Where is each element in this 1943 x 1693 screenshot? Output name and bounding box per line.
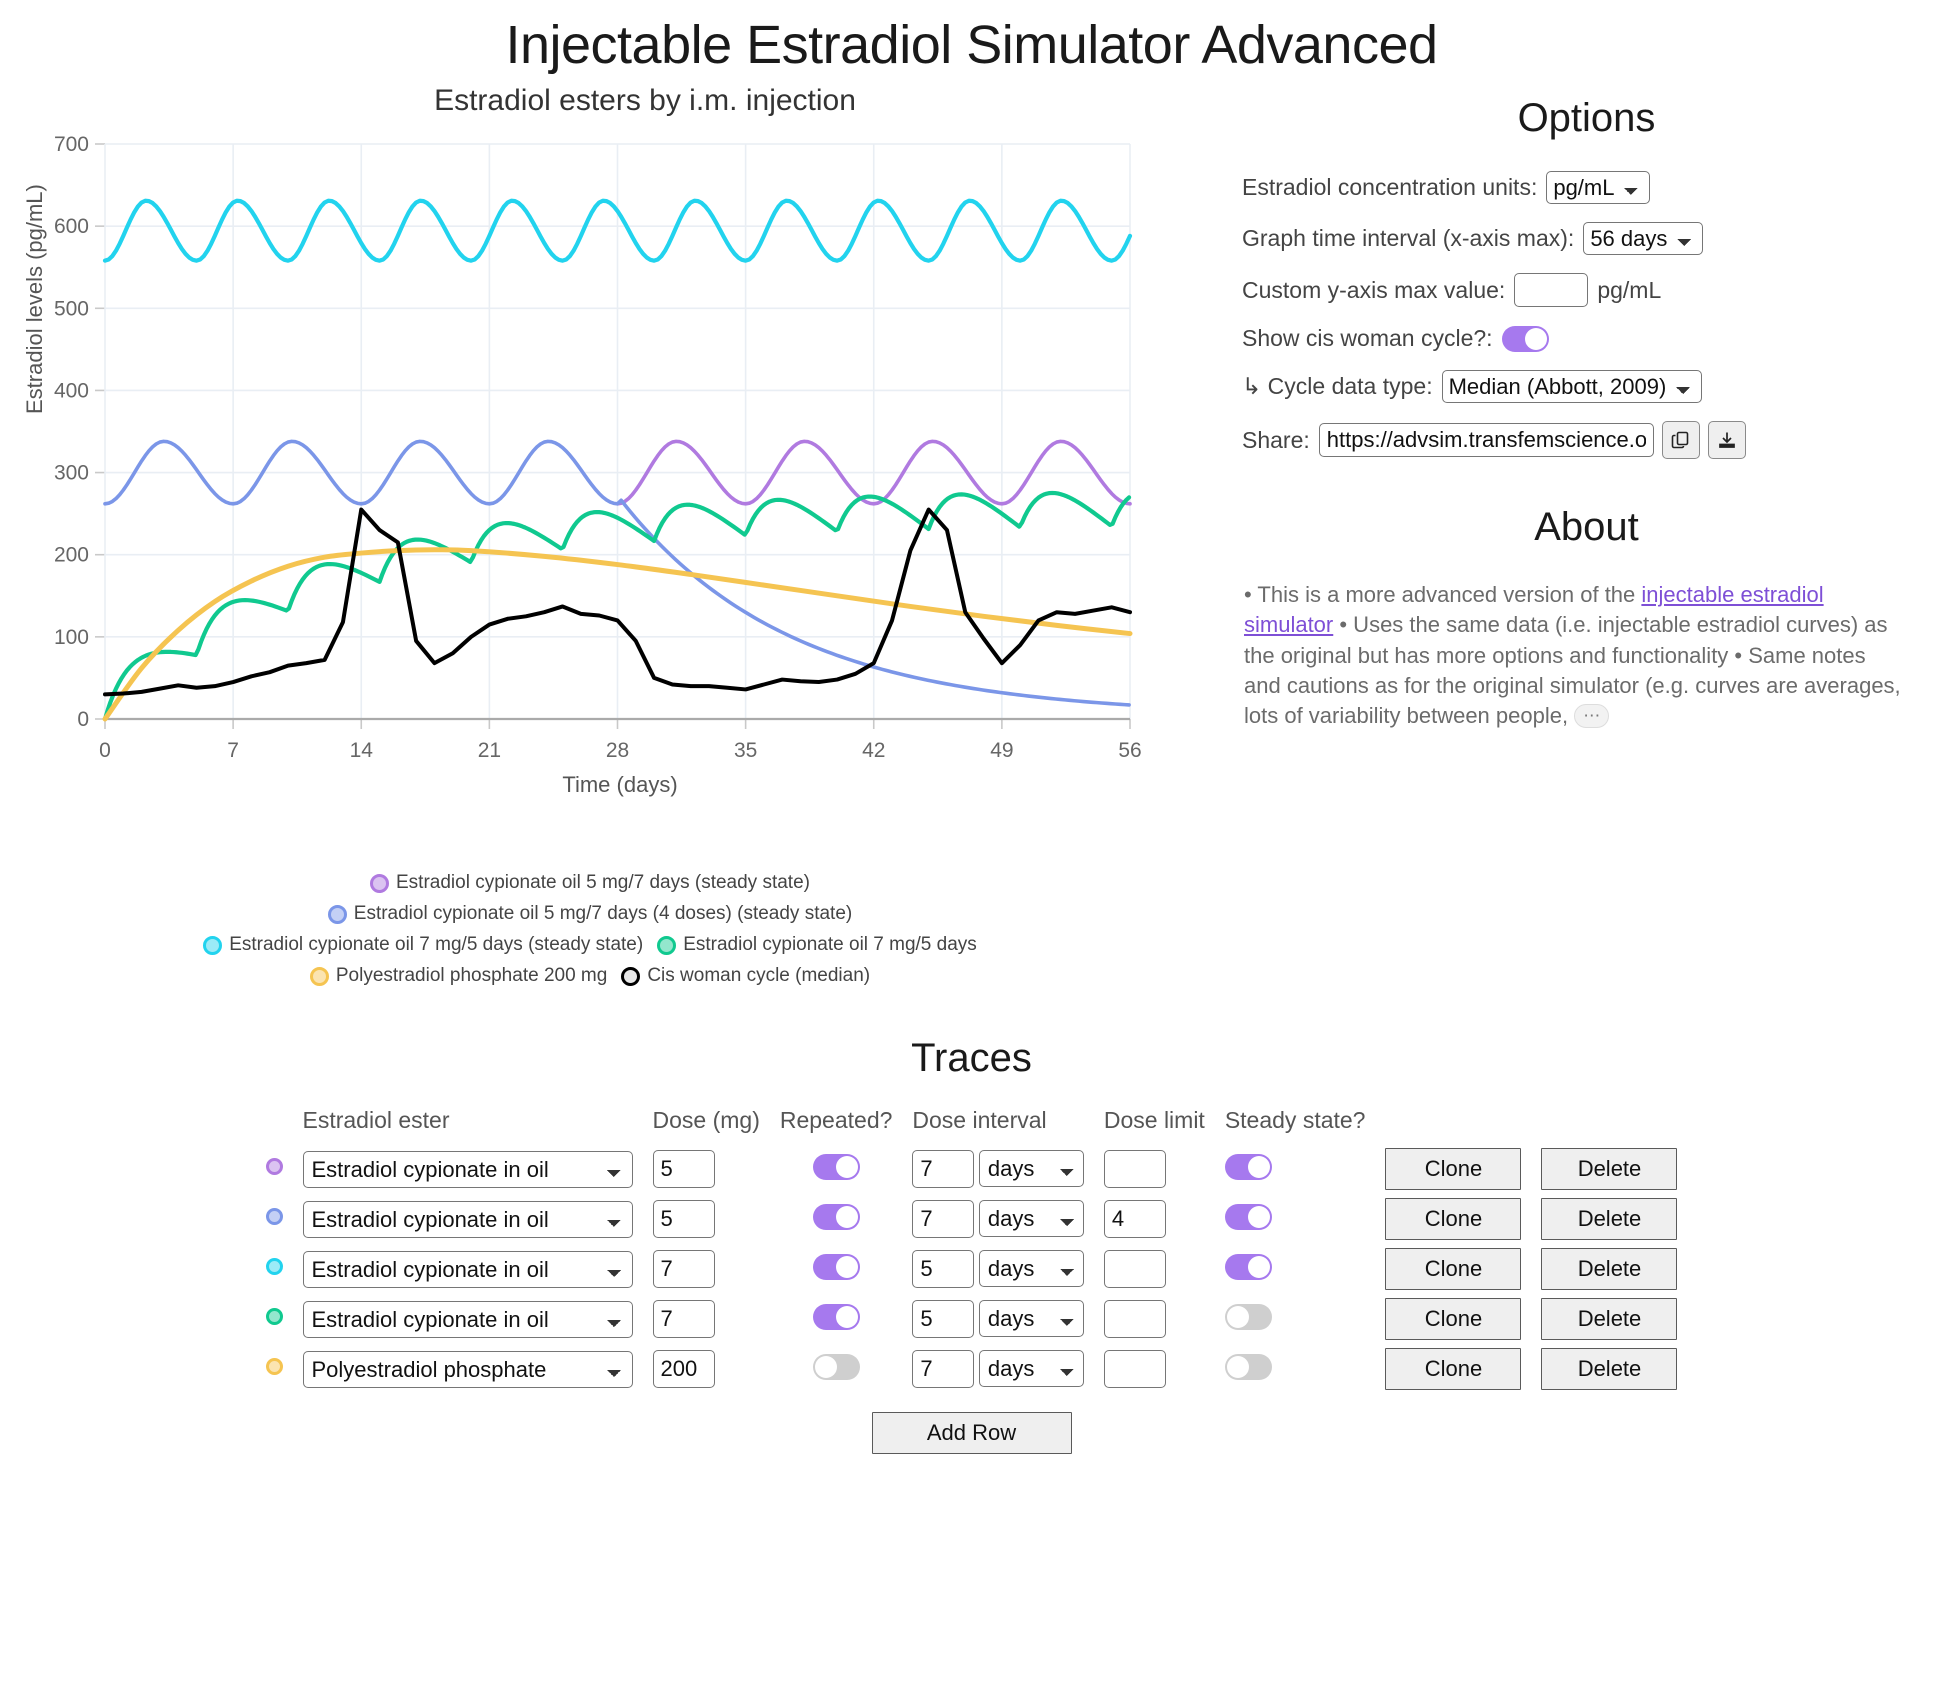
repeated-cell [770, 1244, 903, 1294]
clone-cell: Clone [1375, 1344, 1531, 1394]
traces-header-row: Estradiol ester Dose (mg) Repeated? Dose… [256, 1107, 1688, 1144]
svg-text:600: 600 [54, 215, 89, 238]
trace-color-cell [256, 1194, 293, 1244]
traces-col-ester: Estradiol ester [293, 1107, 643, 1144]
repeated-toggle[interactable] [813, 1304, 860, 1330]
repeated-toggle[interactable] [813, 1354, 860, 1380]
trace-color-cell [256, 1294, 293, 1344]
legend-color-dot [370, 874, 389, 893]
chart-y-axis-label: Estradiol levels (pg/mL) [22, 184, 48, 414]
dose-interval-unit-select[interactable]: days [979, 1350, 1084, 1387]
show-cis-cycle-toggle[interactable] [1502, 326, 1549, 352]
dose-input[interactable] [653, 1350, 715, 1388]
dose-interval-input[interactable] [912, 1200, 974, 1238]
copy-icon[interactable] [1662, 421, 1700, 459]
delete-button[interactable]: Delete [1541, 1348, 1677, 1390]
download-icon[interactable] [1708, 421, 1746, 459]
trace-color-cell [256, 1344, 293, 1394]
time-interval-select[interactable]: 56 days [1583, 222, 1703, 255]
ester-select[interactable]: Estradiol cypionate in oil [303, 1201, 633, 1238]
ester-select[interactable]: Estradiol cypionate in oil [303, 1251, 633, 1288]
legend-item[interactable]: Estradiol cypionate oil 5 mg/7 days (4 d… [328, 903, 852, 925]
traces-heading: Traces [0, 1036, 1943, 1081]
trace-color-dot [266, 1158, 283, 1175]
clone-button[interactable]: Clone [1385, 1248, 1521, 1290]
legend-color-dot [657, 936, 676, 955]
dose-interval-unit-select[interactable]: days [979, 1200, 1084, 1237]
main-content: Estradiol esters by i.m. injection Estra… [0, 76, 1943, 996]
traces-col-actions [1375, 1107, 1531, 1144]
interval-cell: days [902, 1144, 1093, 1194]
trace-color-dot [266, 1258, 283, 1275]
svg-text:500: 500 [54, 297, 89, 320]
repeated-cell [770, 1144, 903, 1194]
repeated-cell [770, 1194, 903, 1244]
clone-button[interactable]: Clone [1385, 1198, 1521, 1240]
limit-cell [1094, 1144, 1215, 1194]
cycle-toggle-label: Show cis woman cycle?: [1242, 325, 1493, 352]
svg-text:700: 700 [54, 133, 89, 156]
chart-title: Estradiol esters by i.m. injection [0, 84, 1230, 118]
delete-button[interactable]: Delete [1541, 1148, 1677, 1190]
dose-limit-input[interactable] [1104, 1350, 1166, 1388]
svg-text:35: 35 [734, 739, 757, 762]
interval-cell: days [902, 1194, 1093, 1244]
trace-color-dot [266, 1308, 283, 1325]
steady-cell [1215, 1344, 1376, 1394]
interval-cell: days [902, 1344, 1093, 1394]
svg-text:300: 300 [54, 462, 89, 485]
svg-text:49: 49 [990, 739, 1013, 762]
traces-col-dose: Dose (mg) [643, 1107, 770, 1144]
time-interval-label: Graph time interval (x-axis max): [1242, 225, 1574, 252]
delete-cell: Delete [1531, 1294, 1687, 1344]
ester-cell: Estradiol cypionate in oil [293, 1294, 643, 1344]
custom-ymax-unit: pg/mL [1597, 277, 1661, 304]
chart-column: Estradiol esters by i.m. injection Estra… [0, 76, 1230, 996]
clone-button[interactable]: Clone [1385, 1348, 1521, 1390]
clone-button[interactable]: Clone [1385, 1148, 1521, 1190]
steady-state-toggle[interactable] [1225, 1204, 1272, 1230]
trace-color-cell [256, 1244, 293, 1294]
about-text-part2: • Uses the same data (i.e. injectable es… [1244, 612, 1901, 728]
legend-label: Estradiol cypionate oil 5 mg/7 days (4 d… [354, 903, 852, 925]
ester-select[interactable]: Polyestradiol phosphate [303, 1351, 633, 1388]
estradiol-line-chart: 01002003004005006007000714212835424956 [10, 124, 1190, 824]
legend-row: Polyestradiol phosphate 200 mgCis woman … [0, 965, 1180, 987]
dose-limit-input[interactable] [1104, 1200, 1166, 1238]
ester-cell: Estradiol cypionate in oil [293, 1244, 643, 1294]
legend-item[interactable]: Estradiol cypionate oil 5 mg/7 days (ste… [370, 872, 810, 894]
trace-color-dot [266, 1208, 283, 1225]
svg-text:56: 56 [1118, 739, 1141, 762]
dose-interval-input[interactable] [912, 1300, 974, 1338]
dose-interval-unit-select[interactable]: days [979, 1250, 1084, 1287]
legend-color-dot [310, 967, 329, 986]
delete-cell: Delete [1531, 1344, 1687, 1394]
svg-text:200: 200 [54, 544, 89, 567]
dose-cell [643, 1144, 770, 1194]
delete-button[interactable]: Delete [1541, 1298, 1677, 1340]
dose-input[interactable] [653, 1150, 715, 1188]
custom-ymax-row: Custom y-axis max value: pg/mL [1230, 273, 1943, 307]
svg-text:14: 14 [350, 739, 374, 762]
steady-cell [1215, 1144, 1376, 1194]
cycle-toggle-row: Show cis woman cycle?: [1230, 325, 1943, 352]
legend-label: Estradiol cypionate oil 5 mg/7 days (ste… [396, 872, 810, 894]
svg-text:21: 21 [478, 739, 501, 762]
steady-state-toggle[interactable] [1225, 1254, 1272, 1280]
delete-cell: Delete [1531, 1144, 1687, 1194]
interval-cell: days [902, 1244, 1093, 1294]
cycle-type-select[interactable]: Median (Abbott, 2009) [1442, 370, 1702, 403]
legend-label: Estradiol cypionate oil 7 mg/5 days (ste… [229, 934, 643, 956]
repeated-toggle[interactable] [813, 1154, 860, 1180]
traces-col-repeated: Repeated? [770, 1107, 903, 1144]
page-title: Injectable Estradiol Simulator Advanced [0, 14, 1943, 76]
custom-ymax-input[interactable] [1514, 273, 1588, 307]
repeated-cell [770, 1344, 903, 1394]
traces-col-interval: Dose interval [902, 1107, 1093, 1144]
legend-row: Estradiol cypionate oil 5 mg/7 days (4 d… [0, 903, 1180, 925]
ester-cell: Polyestradiol phosphate [293, 1344, 643, 1394]
dose-limit-input[interactable] [1104, 1150, 1166, 1188]
dose-cell [643, 1344, 770, 1394]
add-row-button[interactable]: Add Row [872, 1412, 1072, 1454]
units-row: Estradiol concentration units: pg/mL [1230, 171, 1943, 204]
legend-label: Estradiol cypionate oil 7 mg/5 days [683, 934, 977, 956]
about-text: • This is a more advanced version of the… [1230, 580, 1920, 732]
traces-col-actions2 [1531, 1107, 1687, 1144]
dose-interval-unit-select[interactable]: days [979, 1300, 1084, 1337]
repeated-toggle[interactable] [813, 1254, 860, 1280]
trace-color-dot [266, 1358, 283, 1375]
dose-input[interactable] [653, 1300, 715, 1338]
dose-limit-input[interactable] [1104, 1250, 1166, 1288]
svg-text:7: 7 [227, 739, 239, 762]
trace-color-cell [256, 1144, 293, 1194]
clone-cell: Clone [1375, 1294, 1531, 1344]
about-expand-button[interactable]: ⋯ [1574, 704, 1609, 728]
units-label: Estradiol concentration units: [1242, 174, 1537, 201]
chart-x-axis-label: Time (days) [10, 772, 1190, 798]
svg-text:100: 100 [54, 626, 89, 649]
cycle-type-label: ↳ Cycle data type: [1242, 373, 1433, 400]
steady-state-toggle[interactable] [1225, 1154, 1272, 1180]
legend-row: Estradiol cypionate oil 7 mg/5 days (ste… [0, 934, 1180, 956]
dose-input[interactable] [653, 1200, 715, 1238]
legend-color-dot [203, 936, 222, 955]
table-row: Estradiol cypionate in oil daysCloneDele… [256, 1144, 1688, 1194]
dose-cell [643, 1244, 770, 1294]
table-row: Polyestradiol phosphate daysCloneDelete [256, 1344, 1688, 1394]
svg-text:400: 400 [54, 379, 89, 402]
steady-cell [1215, 1244, 1376, 1294]
dose-interval-input[interactable] [912, 1250, 974, 1288]
ester-select[interactable]: Estradiol cypionate in oil [303, 1151, 633, 1188]
dose-cell [643, 1294, 770, 1344]
traces-table: Estradiol ester Dose (mg) Repeated? Dose… [256, 1107, 1688, 1394]
legend-item[interactable]: Estradiol cypionate oil 7 mg/5 days (ste… [203, 934, 643, 956]
legend-item[interactable]: Polyestradiol phosphate 200 mg [310, 965, 607, 987]
clone-cell: Clone [1375, 1244, 1531, 1294]
dose-interval-input[interactable] [912, 1150, 974, 1188]
legend-color-dot [328, 905, 347, 924]
dose-limit-input[interactable] [1104, 1300, 1166, 1338]
legend-label: Cis woman cycle (median) [647, 965, 870, 987]
steady-cell [1215, 1294, 1376, 1344]
interval-cell: days [902, 1294, 1093, 1344]
ester-cell: Estradiol cypionate in oil [293, 1194, 643, 1244]
repeated-cell [770, 1294, 903, 1344]
options-column: Options Estradiol concentration units: p… [1230, 76, 1943, 732]
delete-cell: Delete [1531, 1244, 1687, 1294]
ester-cell: Estradiol cypionate in oil [293, 1144, 643, 1194]
share-url-input[interactable] [1319, 423, 1654, 457]
legend-item[interactable]: Estradiol cypionate oil 7 mg/5 days [657, 934, 977, 956]
table-row: Estradiol cypionate in oil daysCloneDele… [256, 1194, 1688, 1244]
ester-select[interactable]: Estradiol cypionate in oil [303, 1301, 633, 1338]
clone-button[interactable]: Clone [1385, 1298, 1521, 1340]
dose-interval-input[interactable] [912, 1350, 974, 1388]
dose-cell [643, 1194, 770, 1244]
steady-state-toggle[interactable] [1225, 1354, 1272, 1380]
dose-interval-unit-select[interactable]: days [979, 1150, 1084, 1187]
traces-col-limit: Dose limit [1094, 1107, 1215, 1144]
svg-text:0: 0 [99, 739, 111, 762]
about-text-part1: • This is a more advanced version of the [1244, 582, 1641, 607]
limit-cell [1094, 1294, 1215, 1344]
custom-ymax-label: Custom y-axis max value: [1242, 277, 1505, 304]
chart-legend: Estradiol cypionate oil 5 mg/7 days (ste… [0, 872, 1180, 987]
delete-button[interactable]: Delete [1541, 1248, 1677, 1290]
units-select[interactable]: pg/mL [1546, 171, 1650, 204]
limit-cell [1094, 1244, 1215, 1294]
delete-cell: Delete [1531, 1194, 1687, 1244]
clone-cell: Clone [1375, 1194, 1531, 1244]
clone-cell: Clone [1375, 1144, 1531, 1194]
share-row: Share: [1230, 421, 1943, 459]
svg-text:42: 42 [862, 739, 885, 762]
cycle-type-row: ↳ Cycle data type: Median (Abbott, 2009) [1230, 370, 1943, 403]
chart-area: Estradiol levels (pg/mL) 010020030040050… [10, 124, 1190, 824]
legend-label: Polyestradiol phosphate 200 mg [336, 965, 607, 987]
options-heading: Options [1230, 96, 1943, 141]
traces-color-header [256, 1107, 293, 1144]
legend-color-dot [621, 967, 640, 986]
traces-col-steady: Steady state? [1215, 1107, 1376, 1144]
time-interval-row: Graph time interval (x-axis max): 56 day… [1230, 222, 1943, 255]
legend-row: Estradiol cypionate oil 5 mg/7 days (ste… [0, 872, 1180, 894]
dose-input[interactable] [653, 1250, 715, 1288]
steady-cell [1215, 1194, 1376, 1244]
table-row: Estradiol cypionate in oil daysCloneDele… [256, 1244, 1688, 1294]
about-heading: About [1230, 505, 1943, 550]
svg-text:0: 0 [77, 708, 89, 731]
svg-text:28: 28 [606, 739, 629, 762]
add-row-container: Add Row [0, 1412, 1943, 1454]
limit-cell [1094, 1344, 1215, 1394]
legend-item[interactable]: Cis woman cycle (median) [621, 965, 870, 987]
share-label: Share: [1242, 427, 1310, 454]
table-row: Estradiol cypionate in oil daysCloneDele… [256, 1294, 1688, 1344]
limit-cell [1094, 1194, 1215, 1244]
repeated-toggle[interactable] [813, 1204, 860, 1230]
steady-state-toggle[interactable] [1225, 1304, 1272, 1330]
delete-button[interactable]: Delete [1541, 1198, 1677, 1240]
